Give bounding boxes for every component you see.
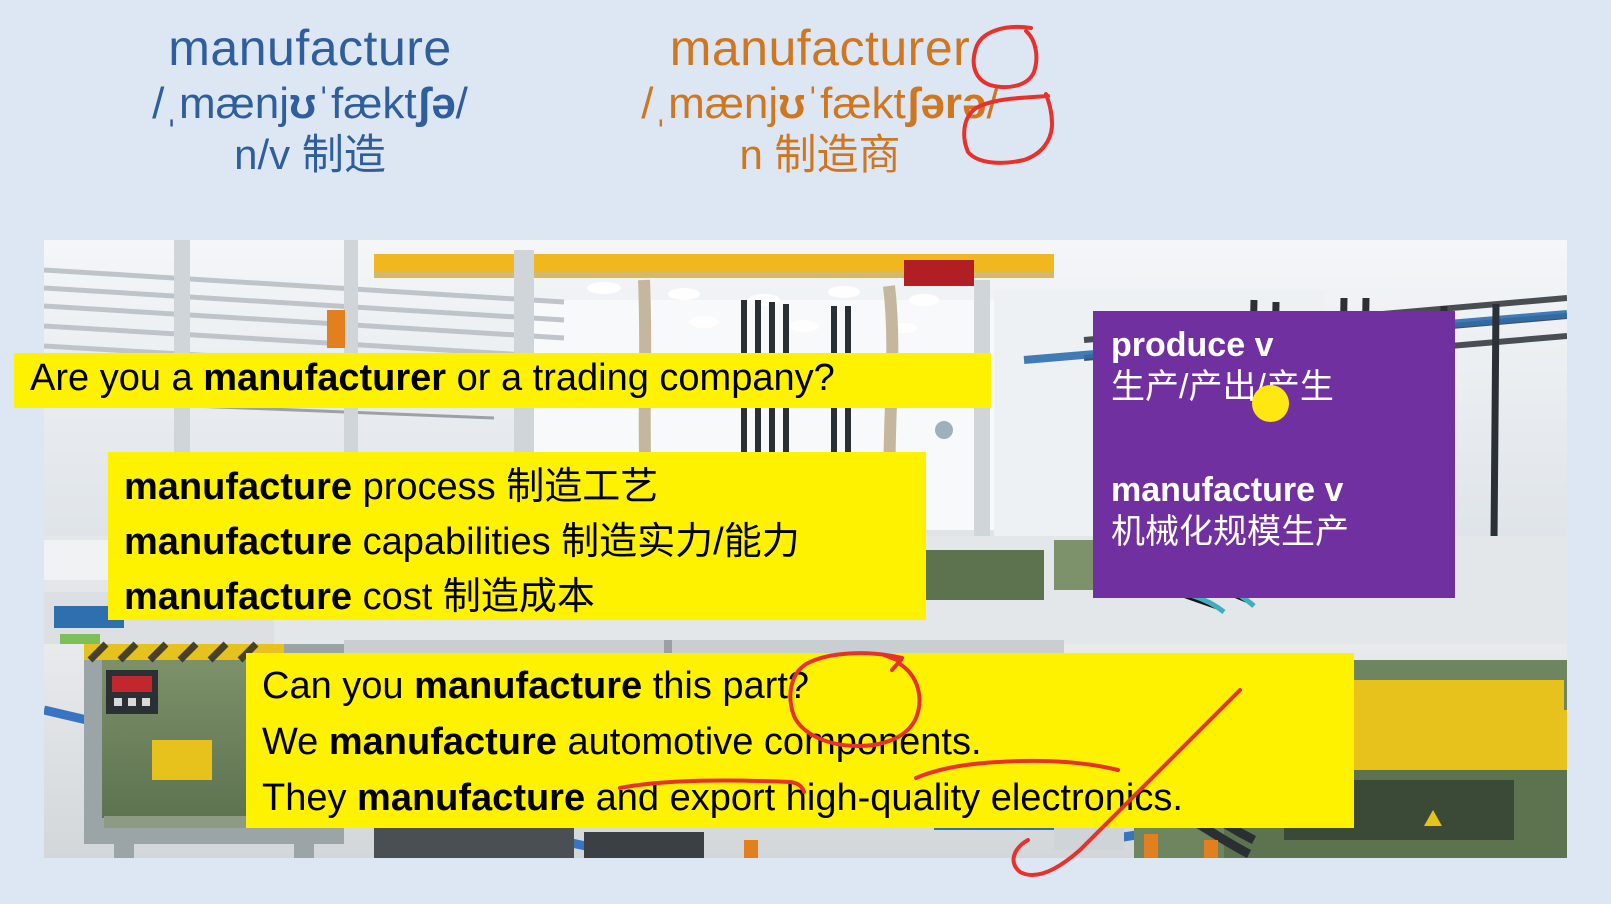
headword-manufacture: manufacture	[60, 22, 560, 75]
sentence-pre: They	[262, 777, 357, 819]
example-sentence: They manufacture and export high-quality…	[262, 771, 1338, 827]
synonym-contrast-box: produce v 生产/产出/产生 manufacture v 机械化规模生产	[1093, 311, 1455, 598]
sentence-keyword: manufacture	[414, 665, 642, 707]
ipa-segment-mid: ˈfækt	[806, 79, 906, 128]
purple-entry-2-term: manufacture v	[1111, 470, 1441, 511]
example-sentence: Can you manufacture this part?	[262, 659, 1338, 715]
collocation-line: manufacture capabilities 制造实力/能力	[124, 515, 910, 570]
pointer-dot-icon	[1252, 385, 1289, 422]
sentence-keyword: manufacture	[329, 721, 557, 763]
gloss-manufacture: n/v 制造	[60, 133, 560, 177]
collocation-rest: process 制造工艺	[352, 466, 658, 508]
purple-entry-2-gloss: 机械化规模生产	[1111, 511, 1441, 554]
question-pre: Are you a	[30, 357, 203, 399]
collocation-keyword: manufacture	[124, 576, 352, 618]
ipa-segment-post: /	[986, 79, 998, 128]
collocation-line: manufacture process 制造工艺	[124, 460, 910, 515]
collocation-rest: cost 制造成本	[352, 576, 595, 618]
gloss-manufacturer: n 制造商	[570, 133, 1070, 177]
sentence-pre: We	[262, 721, 329, 763]
example-sentence: We manufacture automotive components.	[262, 715, 1338, 771]
headword-manufacturer: manufacturer	[570, 22, 1070, 75]
sentence-post: this part?	[642, 665, 809, 707]
ipa-segment-stress-vowel: ʊ	[778, 79, 805, 128]
sentence-post: and export high-quality electronics.	[585, 777, 1183, 819]
highlight-collocations: manufacture process 制造工艺 manufacture cap…	[108, 452, 926, 620]
collocation-rest: capabilities 制造实力/能力	[352, 521, 800, 563]
purple-entry-1-term: produce v	[1111, 325, 1441, 366]
highlight-question-sentence: Are you a manufacturer or a trading comp…	[14, 353, 991, 408]
collocation-keyword: manufacture	[124, 521, 352, 563]
slide-canvas: manufacture /ˌmænjʊˈfæktʃə/ n/v 制造 manuf…	[0, 0, 1611, 904]
ipa-segment-pre: /ˌmænj	[641, 79, 778, 128]
ipa-segment-pre: /ˌmænj	[152, 79, 289, 128]
ipa-manufacture: /ˌmænjʊˈfæktʃə/	[60, 81, 560, 127]
ipa-segment-ending: ʃərə	[906, 79, 987, 128]
ipa-segment-stress-vowel: ʊ	[289, 79, 316, 128]
collocation-keyword: manufacture	[124, 466, 352, 508]
sentence-keyword: manufacture	[357, 777, 585, 819]
question-keyword: manufacturer	[203, 357, 446, 399]
word-entry-manufacture: manufacture /ˌmænjʊˈfæktʃə/ n/v 制造	[60, 22, 560, 177]
ipa-segment-ending: ʃə	[417, 79, 456, 128]
ipa-segment-mid: ˈfækt	[316, 79, 416, 128]
ipa-manufacturer: /ˌmænjʊˈfæktʃərə/	[570, 81, 1070, 127]
sentence-pre: Can you	[262, 665, 414, 707]
highlight-example-sentences: Can you manufacture this part? We manufa…	[246, 653, 1354, 828]
sentence-post: automotive components.	[557, 721, 982, 763]
ipa-segment-post: /	[456, 79, 468, 128]
question-post: or a trading company?	[446, 357, 835, 399]
word-entry-manufacturer: manufacturer /ˌmænjʊˈfæktʃərə/ n 制造商	[570, 22, 1070, 177]
collocation-line: manufacture cost 制造成本	[124, 570, 910, 625]
